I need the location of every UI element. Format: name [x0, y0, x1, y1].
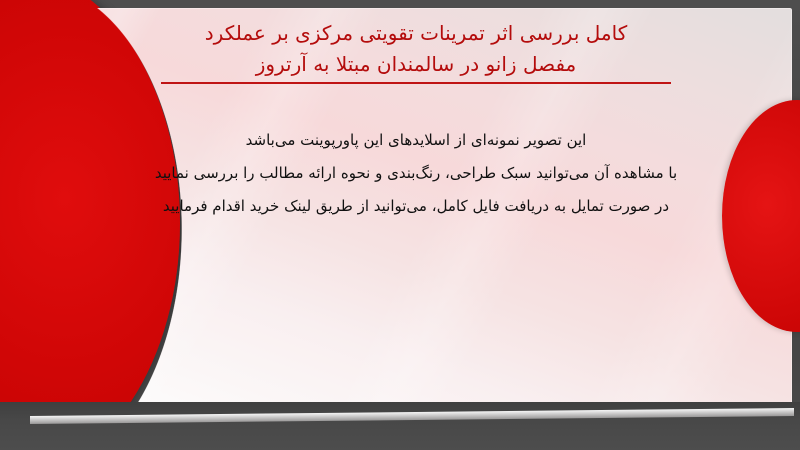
title-underline-rule [161, 82, 671, 84]
slide-body-line-2: با مشاهده آن می‌توانید سبک طراحی، رنگ‌بن… [60, 157, 772, 190]
slide-body-line-3: در صورت تمایل به دریافت فایل کامل، می‌تو… [60, 190, 772, 223]
slide-content: کامل بررسی اثر تمرینات تقویتی مرکزی بر ع… [60, 8, 772, 406]
slide-title-line-1: کامل بررسی اثر تمرینات تقویتی مرکزی بر ع… [60, 18, 772, 49]
slide-body-line-1: این تصویر نمونه‌ای از اسلایدهای این پاور… [60, 124, 772, 157]
slide-title-line-2: مفصل زانو در سالمندان مبتلا به آرتروز [60, 49, 772, 80]
slide-title: کامل بررسی اثر تمرینات تقویتی مرکزی بر ع… [60, 18, 772, 80]
slide-body-text: این تصویر نمونه‌ای از اسلایدهای این پاور… [60, 124, 772, 223]
presentation-slide: کامل بررسی اثر تمرینات تقویتی مرکزی بر ع… [0, 0, 800, 450]
